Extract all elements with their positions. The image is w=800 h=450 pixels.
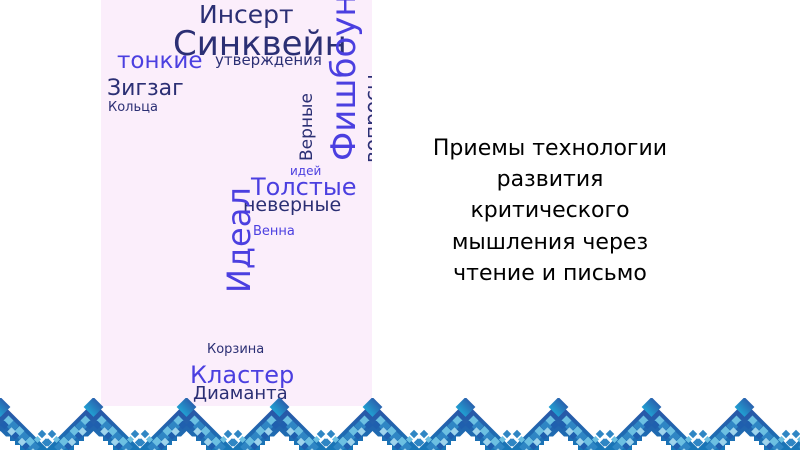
cloud-word-voprosy: вопросы [362, 74, 372, 163]
ornament-border [0, 398, 800, 450]
cloud-word-tonkie: тонкие [117, 50, 203, 73]
cloud-word-zigzag: Зигзаг [107, 78, 184, 100]
cloud-word-venna: Венна [253, 225, 295, 238]
wordcloud-panel: Инсерт Синквейн тонкие утверждения Зигза… [101, 0, 372, 406]
title-line-3: критического [400, 195, 700, 226]
cloud-word-korzina: Корзина [207, 343, 264, 356]
cloud-word-ideal: Идеал [223, 187, 255, 293]
title-line-2: развития [400, 164, 700, 195]
title-line-4: мышления через [400, 227, 700, 258]
title-text-block: Приемы технологии развития критического … [400, 133, 700, 289]
title-line-5: чтение и письмо [400, 258, 700, 289]
diamond-chevron-icon [0, 398, 800, 450]
cloud-word-koltsa: Кольца [108, 101, 158, 114]
title-line-1: Приемы технологии [400, 133, 700, 164]
slide-canvas: Инсерт Синквейн тонкие утверждения Зигза… [0, 0, 800, 450]
cloud-word-fishboun: Фишбоун [327, 0, 361, 161]
cloud-word-vernye: Верные [299, 93, 316, 161]
cloud-word-utverzhdeniya: утверждения [215, 53, 322, 68]
